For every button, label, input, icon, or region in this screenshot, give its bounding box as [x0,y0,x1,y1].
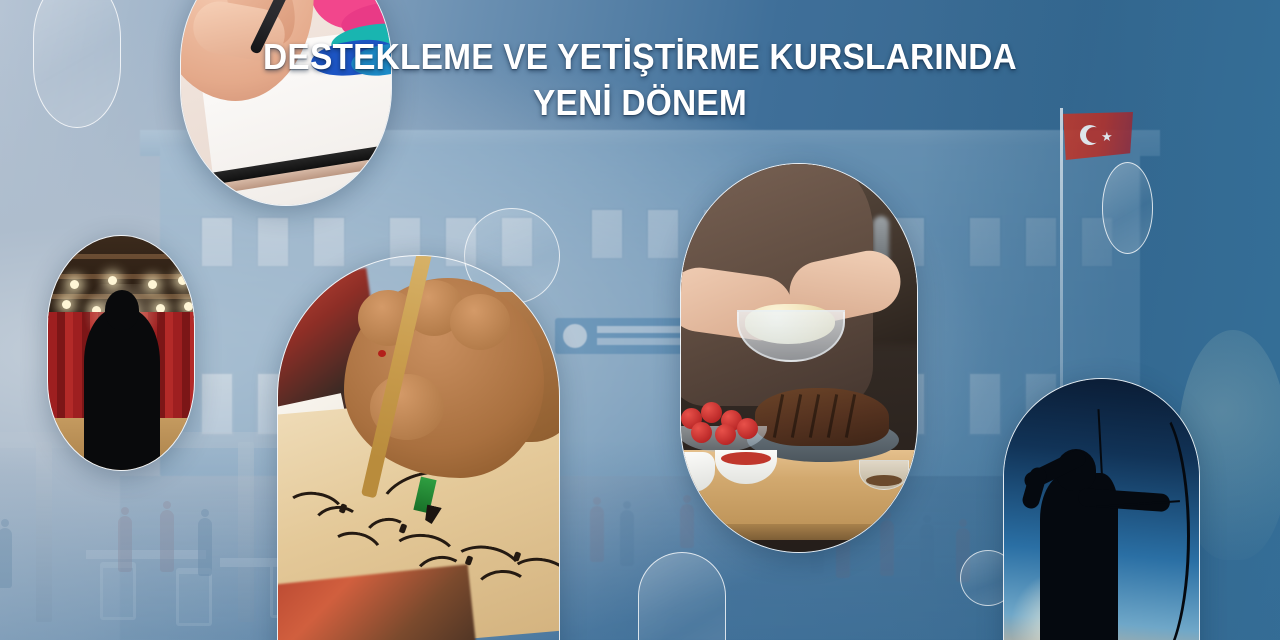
photo-cooking [680,163,918,553]
ghost-pill-top-left [33,0,121,128]
ghost-pill-top-right [1102,162,1153,254]
performer-silhouette [84,308,160,471]
bread-loaf-icon [755,388,889,446]
photo-archery [1003,378,1200,640]
turkish-flag-icon: ★ [1063,112,1133,160]
poster-canvas: ★ [0,0,1280,640]
photo-tablet-drawing [180,0,392,206]
cherry-tomatoes-icon [680,402,763,444]
ghost-pill-bottom-center [638,552,726,640]
photo-theatre [47,235,195,471]
photo-calligraphy [277,255,560,640]
